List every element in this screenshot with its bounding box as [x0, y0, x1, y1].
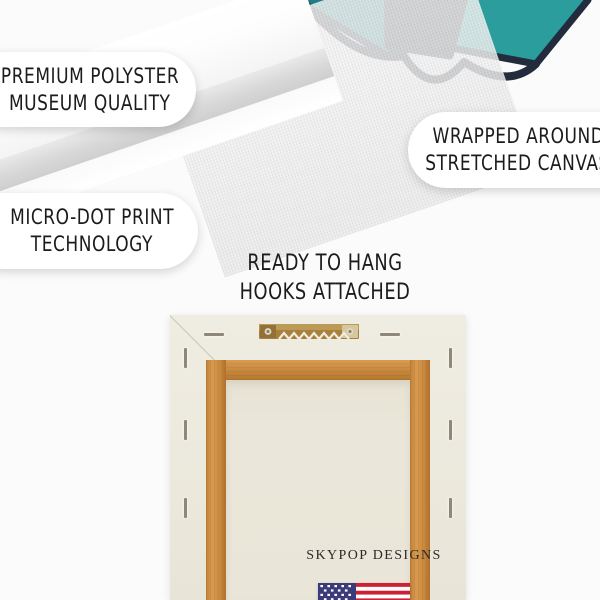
product-marketing-image: PREMIUM POLYSTER MUSEUM QUALITY WRAPPED … — [0, 0, 600, 600]
callout-wrapped-around: WRAPPED AROUND STRETCHED CANVAS — [408, 112, 600, 188]
us-flag-icon — [318, 583, 410, 600]
staple — [184, 348, 187, 368]
staple — [449, 348, 452, 368]
staple — [184, 498, 187, 518]
staple — [380, 333, 400, 336]
staple — [449, 498, 452, 518]
stretcher-bar-top — [206, 360, 430, 380]
callout-premium-polyster: PREMIUM POLYSTER MUSEUM QUALITY — [0, 52, 196, 127]
staple — [184, 420, 187, 440]
callout-line-1: PREMIUM POLYSTER — [1, 63, 179, 90]
callout-line-2: MUSEUM QUALITY — [9, 90, 170, 117]
stretcher-bar-left — [206, 360, 226, 600]
stretcher-bar-right — [410, 360, 430, 600]
callout-line-1: MICRO-DOT PRINT — [10, 204, 174, 231]
heading-line-1: READY TO HANG — [213, 250, 438, 279]
callout-line-2: STRETCHED CANVAS — [426, 150, 600, 177]
callout-micro-dot-print: MICRO-DOT PRINT TECHNOLOGY — [0, 193, 198, 269]
ready-to-hang-heading: READY TO HANG HOOKS ATTACHED — [200, 250, 450, 307]
callout-line-2: TECHNOLOGY — [31, 231, 153, 258]
staple — [449, 420, 452, 440]
heading-line-2: HOOKS ATTACHED — [213, 279, 438, 308]
staple — [204, 333, 224, 336]
brand-label: SKYPOP DESIGNS — [282, 548, 466, 564]
sawtooth-hanger-icon — [259, 323, 359, 343]
canvas-back-product: SKYPOP DESIGNS — [170, 315, 466, 600]
canvas-back-panel: SKYPOP DESIGNS — [226, 380, 410, 600]
callout-line-1: WRAPPED AROUND — [432, 123, 600, 150]
